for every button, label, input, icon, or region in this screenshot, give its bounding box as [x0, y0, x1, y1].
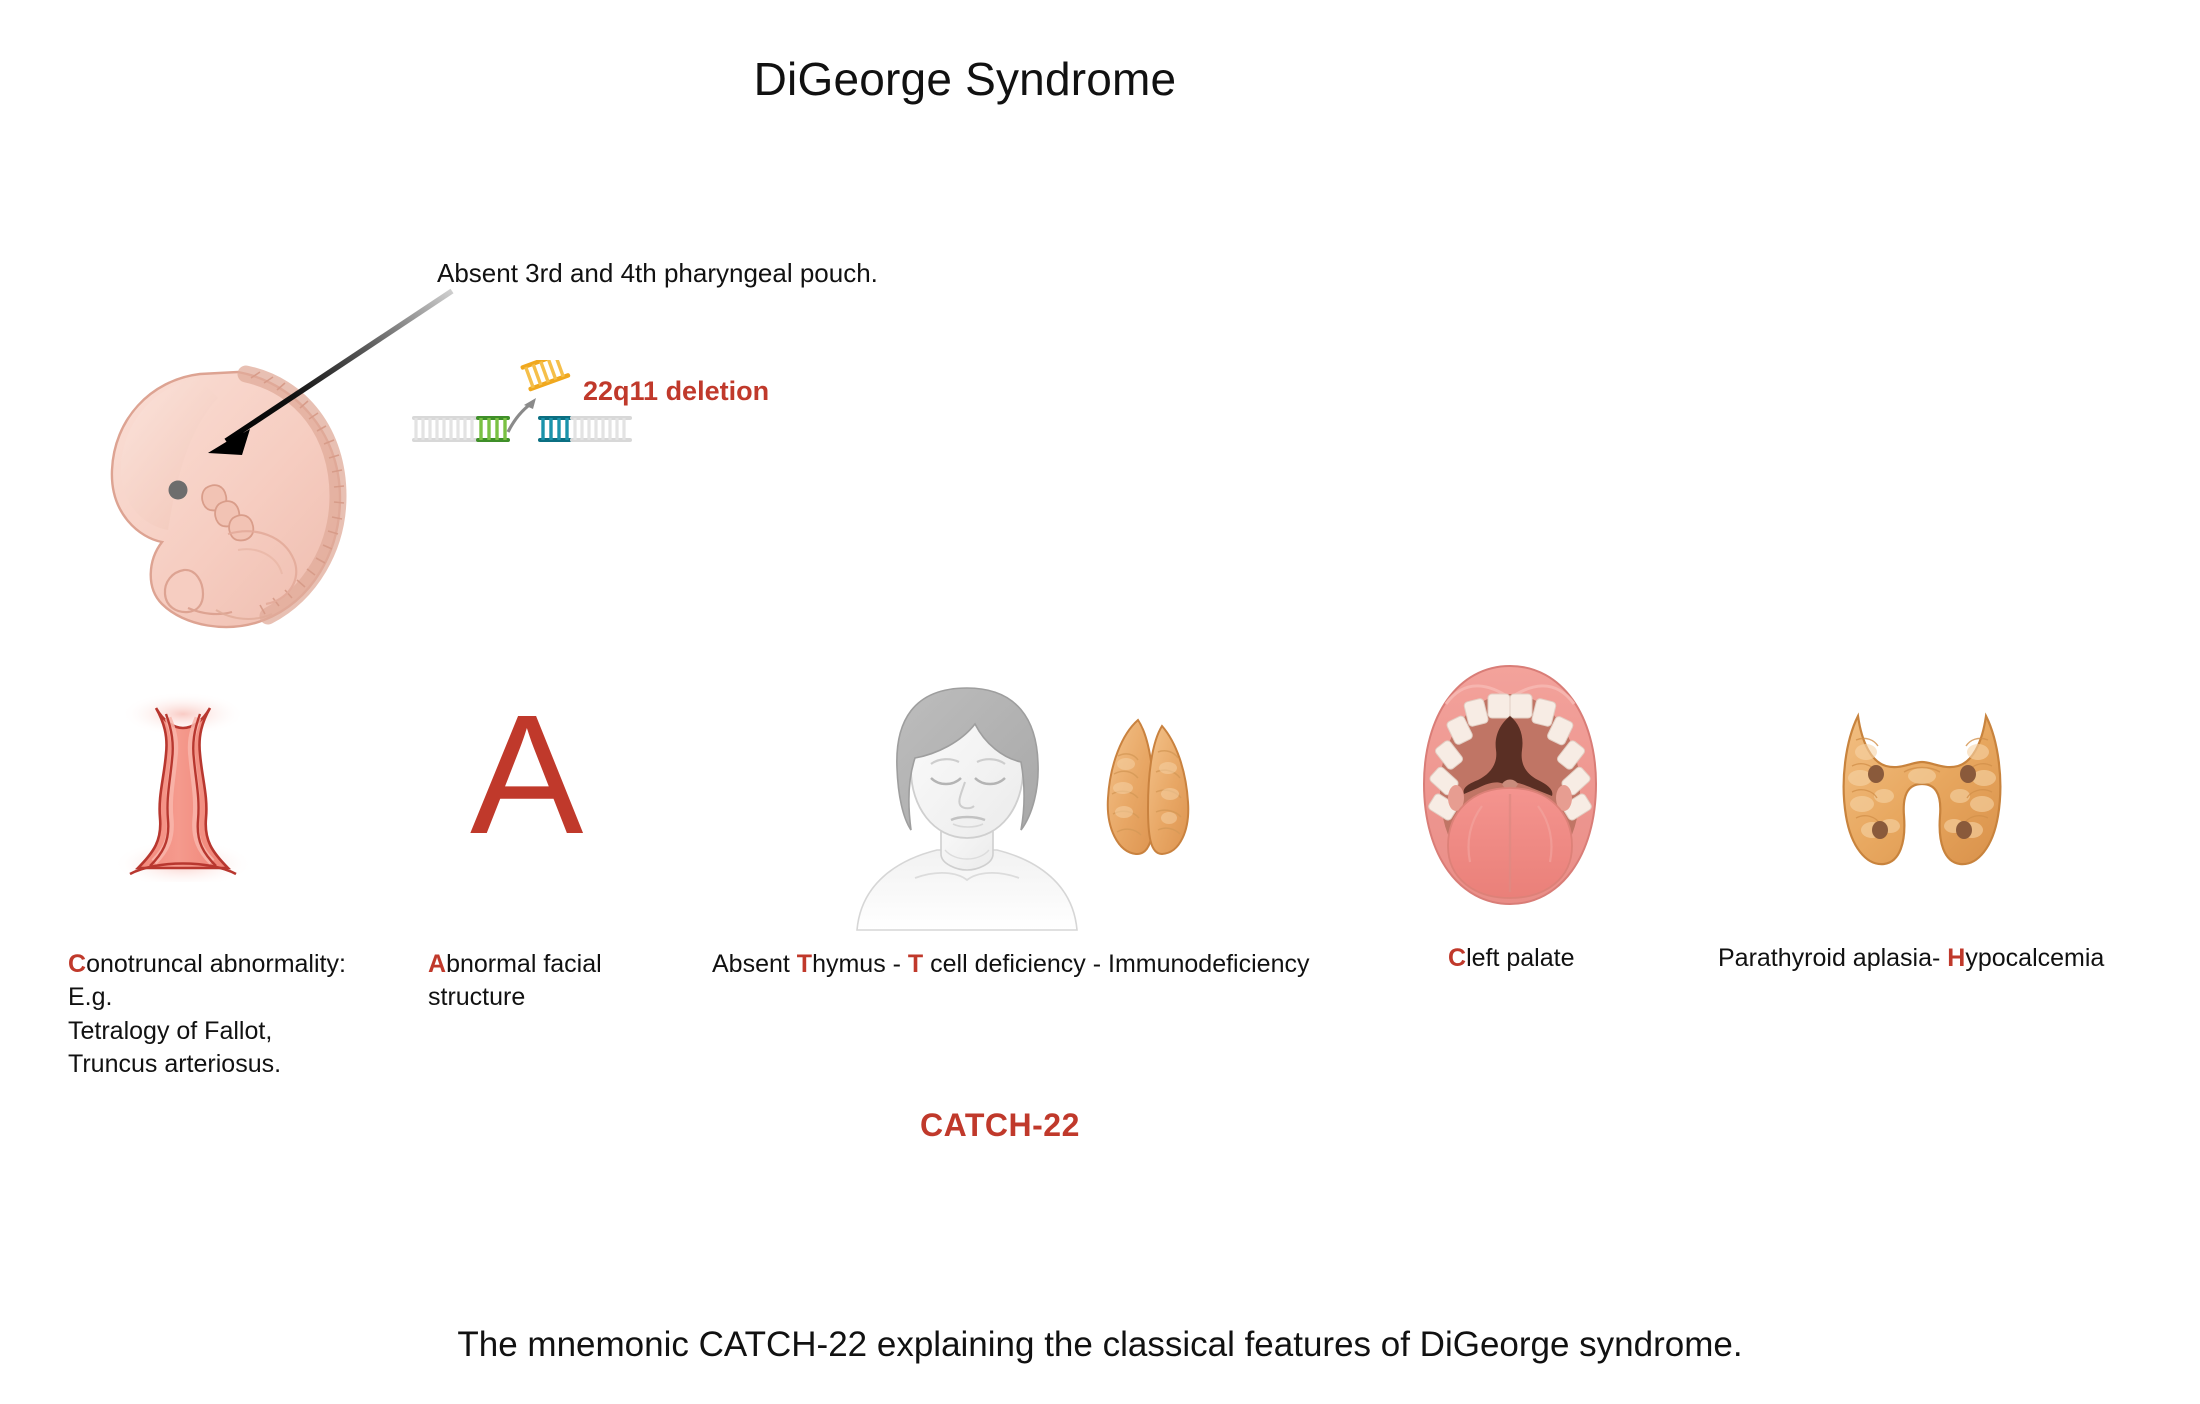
mnemonic-letter-c2: C [1448, 944, 1466, 972]
caption-conotruncal-line2: E.g. [68, 983, 112, 1011]
caption-conotruncal-line3: Tetralogy of Fallot, [68, 1017, 272, 1045]
mnemonic-letter-a: A [428, 950, 446, 978]
mnemonic-letter-t1: T [797, 950, 812, 978]
thymus-icon [1092, 712, 1212, 865]
mnemonic-letter-c1: C [68, 950, 86, 978]
parathyroid-gland-lower-right [1956, 821, 1972, 839]
letter-a-icon: A [470, 690, 583, 860]
deletion-label: 22q11 deletion [583, 376, 769, 407]
caption-cleft-palate: Cleft palate [1448, 942, 1728, 975]
face-icon [845, 672, 1090, 937]
caption-conotruncal-line4: Truncus arteriosus. [68, 1050, 281, 1078]
caption-hypocalcemia: Parathyroid aplasia- Hypocalcemia [1718, 942, 2198, 975]
dna-strand-right [570, 416, 632, 442]
caption-thymus-mid2: cell deficiency - Immunodeficiency [923, 950, 1309, 978]
caption-abnormal-facies: Abnormal facial structure [428, 948, 678, 1015]
caption-conotruncal: Conotruncal abnormality: E.g. Tetralogy … [68, 948, 398, 1081]
catch22-mnemonic-label: CATCH-22 [920, 1107, 1080, 1144]
embryo-annotation-label: Absent 3rd and 4th pharyngeal pouch. [437, 258, 878, 289]
caption-thymus-mid1: hymus - [812, 950, 908, 978]
parathyroid-gland-lower-left [1872, 821, 1888, 839]
parathyroid-gland-upper-left [1868, 765, 1884, 783]
excised-fragment-icon [520, 360, 571, 392]
caption-hypocalcemia-text: ypocalcemia [1965, 944, 2104, 972]
parathyroid-gland-upper-right [1960, 765, 1976, 783]
dna-segment-teal [538, 416, 572, 442]
mnemonic-letter-t2: T [908, 950, 923, 978]
caption-thymus: Absent Thymus - T cell deficiency - Immu… [712, 948, 1432, 981]
thyroid-parathyroid-icon [1832, 700, 2012, 885]
figure-caption: The mnemonic CATCH-22 explaining the cla… [0, 1325, 2200, 1365]
dna-segment-green [476, 416, 510, 442]
mnemonic-letter-h: H [1947, 944, 1965, 972]
dna-strand-left [412, 416, 478, 442]
page-title: DiGeorge Syndrome [0, 52, 1930, 106]
great-vessel-icon [108, 692, 258, 887]
caption-thymus-pre: Absent [712, 950, 797, 978]
diagram-canvas: DiGeorge Syndrome [0, 0, 2200, 1404]
caption-cleft-palate-text: left palate [1466, 944, 1574, 972]
cleft-palate-icon [1420, 660, 1600, 915]
caption-conotruncal-line1: onotruncal abnormality: [86, 950, 346, 978]
embryo-eye [169, 481, 188, 500]
caption-facies-line1: bnormal facial [446, 950, 602, 978]
caption-facies-line2: structure [428, 983, 525, 1011]
caption-hypocalcemia-pre: Parathyroid aplasia- [1718, 944, 1947, 972]
